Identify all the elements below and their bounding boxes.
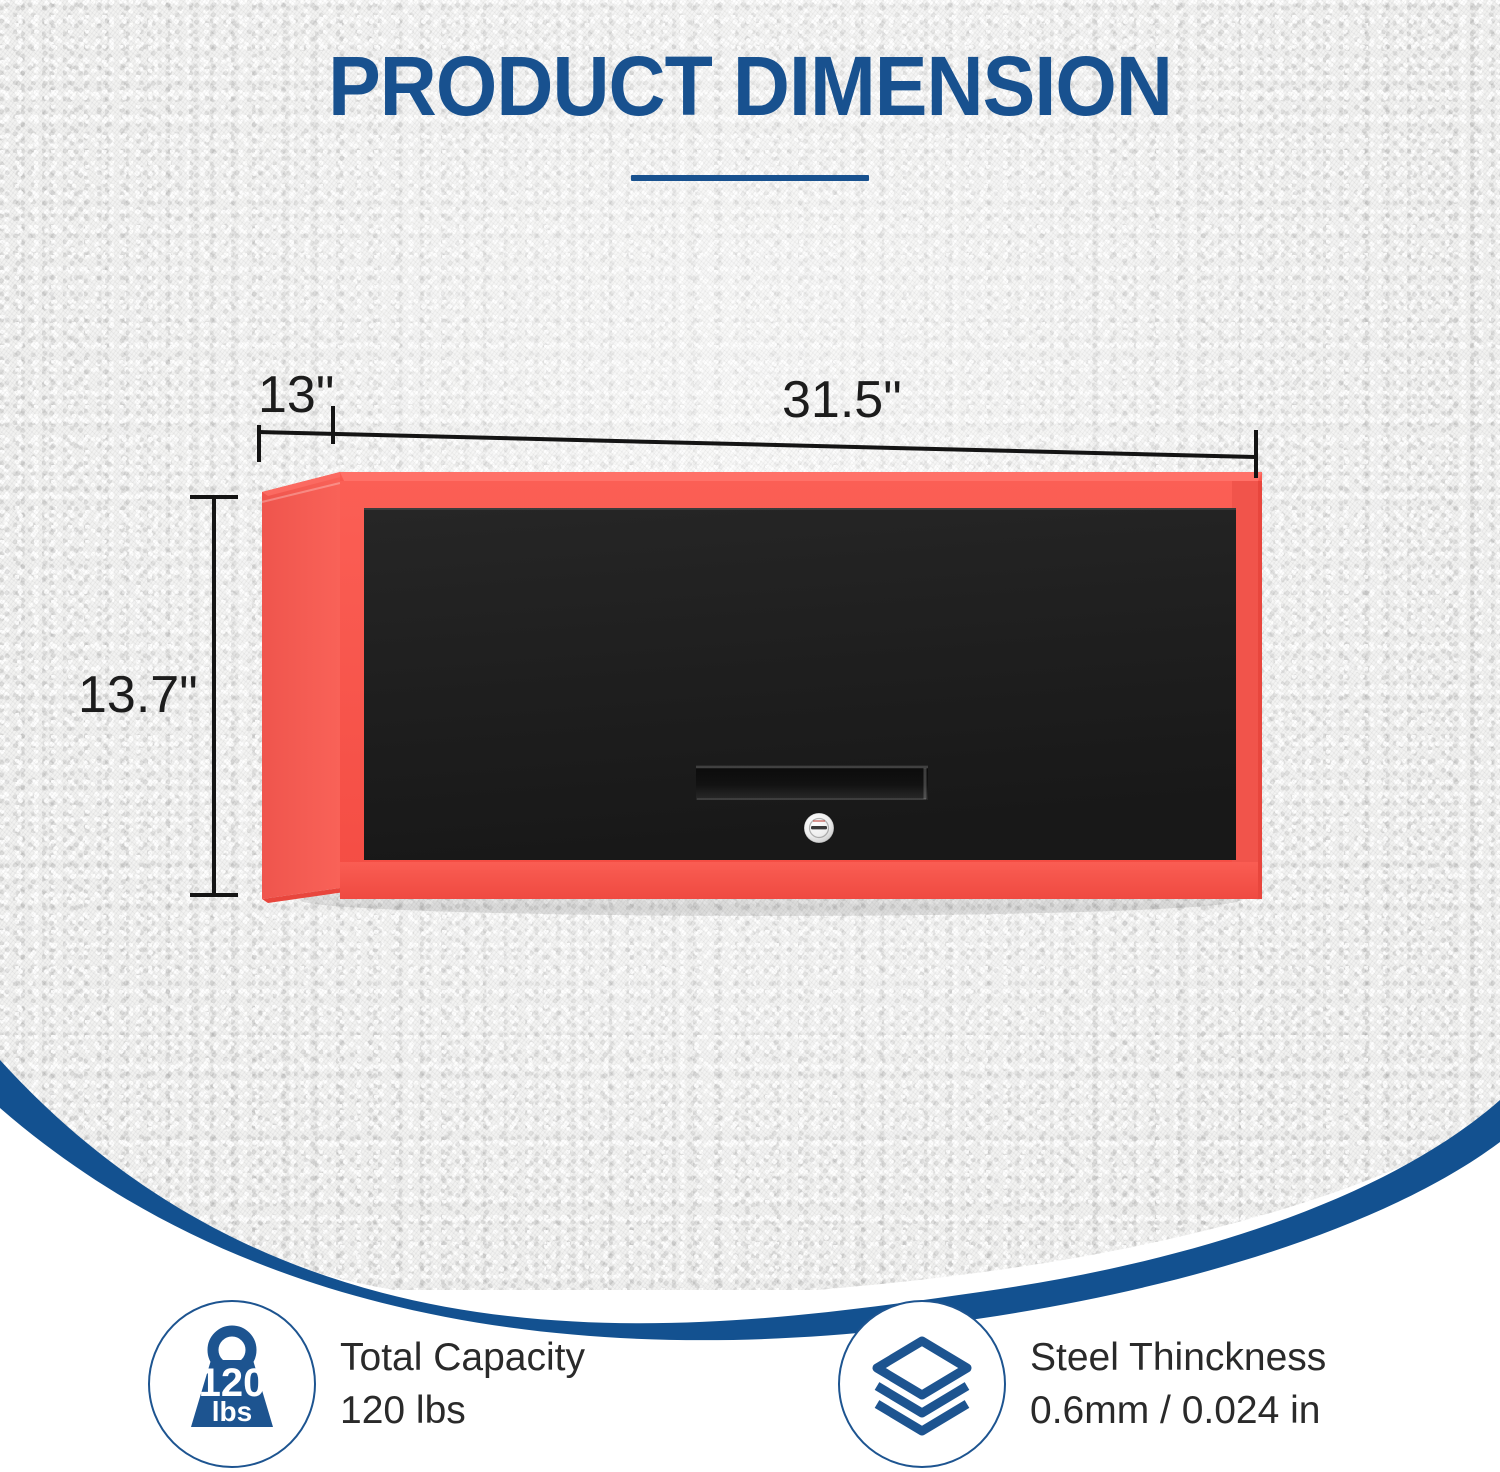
feature-steel-thickness: Steel Thinckness 0.6mm / 0.024 in (838, 1300, 1326, 1468)
height-dimension-label: 13.7" (78, 665, 198, 725)
recessed-door-handle[interactable] (696, 766, 928, 800)
feature-text-capacity: Total Capacity 120 lbs (340, 1331, 585, 1437)
weight-120lbs-icon: 120 lbs (172, 1324, 292, 1444)
width-dimension-label: 31.5" (782, 370, 902, 430)
door-lock-cylinder[interactable] (804, 813, 834, 843)
feature-icon-circle-thickness (838, 1300, 1006, 1468)
layers-stack-icon (862, 1324, 982, 1444)
cabinet-left-side-panel (262, 472, 340, 899)
cabinet-top-perspective-band (340, 472, 1262, 481)
feature-text-thickness: Steel Thinckness 0.6mm / 0.024 in (1030, 1331, 1326, 1437)
feature-total-capacity: 120 lbs Total Capacity 120 lbs (148, 1300, 585, 1468)
depth-dimension-label: 13" (258, 365, 334, 425)
cabinet-base-band (340, 862, 1262, 899)
weight-icon-unit: lbs (212, 1396, 252, 1427)
feature-list: 120 lbs Total Capacity 120 lbs (0, 1300, 1500, 1472)
feature-icon-circle-capacity: 120 lbs (148, 1300, 316, 1468)
feature-capacity-line1: Total Capacity (340, 1331, 585, 1384)
feature-thickness-line2: 0.6mm / 0.024 in (1030, 1384, 1326, 1437)
feature-capacity-line2: 120 lbs (340, 1384, 585, 1437)
infographic-stage: PRODUCT DIMENSION (0, 0, 1500, 1472)
feature-thickness-line1: Steel Thinckness (1030, 1331, 1326, 1384)
